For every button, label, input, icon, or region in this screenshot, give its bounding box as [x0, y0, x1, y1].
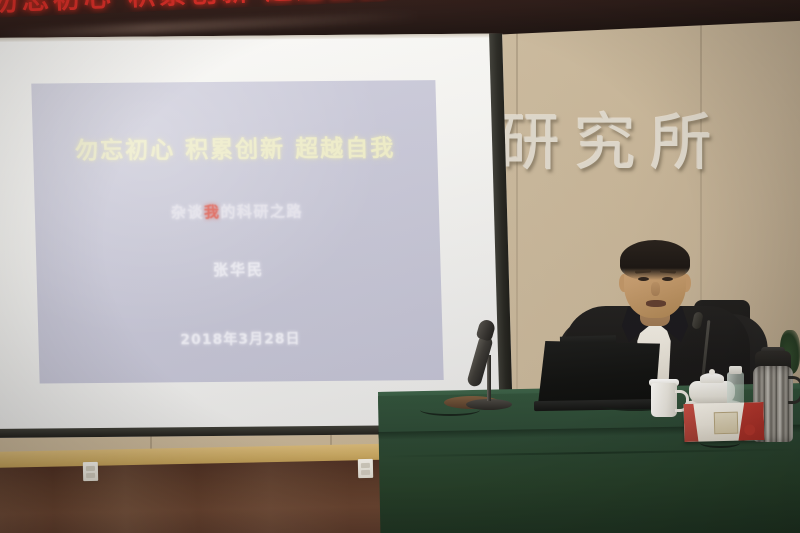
cable	[420, 404, 480, 416]
slide-subtitle-highlight: 我	[204, 203, 221, 221]
slide-subtitle-before: 杂谈	[171, 203, 205, 221]
teapot-knob	[709, 369, 715, 375]
slide-title: 勿忘初心 积累创新 超越自我	[33, 128, 438, 166]
speaker-eye-left	[638, 277, 649, 281]
speaker-mouth	[646, 300, 666, 307]
slide-subtitle: 杂谈我的科研之路	[35, 199, 440, 224]
microphone-stem	[487, 355, 491, 401]
thermos-handle	[788, 376, 800, 404]
floor-reflection	[0, 459, 442, 533]
speaker-nose	[651, 282, 660, 296]
floor	[0, 459, 442, 533]
speaker-hair	[620, 240, 690, 280]
projected-slide: 勿忘初心 积累创新 超越自我 杂谈我的科研之路 张华民 2018年3月28日	[31, 80, 443, 383]
projection-screen: 勿忘初心 积累创新 超越自我 杂谈我的科研之路 张华民 2018年3月28日	[0, 33, 513, 437]
wall-outlet-icon	[83, 462, 98, 481]
speaker-eye-right	[662, 277, 673, 281]
slide-subtitle-after: 的科研之路	[220, 202, 303, 221]
gift-box	[684, 402, 765, 442]
water-bottle-cap	[729, 366, 742, 374]
lecture-hall-photo: 研究所 勿忘初心 积累创新 超越自我 勿忘初心 积累创新 超越自我 杂谈我的科研…	[0, 0, 800, 533]
gift-box-label	[714, 412, 739, 435]
white-mug	[651, 383, 677, 417]
slide-speaker-name: 张华民	[36, 257, 441, 282]
laptop	[538, 341, 660, 407]
wall-sign-text: 研究所	[498, 92, 726, 182]
slide-date: 2018年3月28日	[38, 327, 443, 351]
wall-outlet-icon	[358, 459, 373, 478]
gift-box-red-left	[684, 404, 699, 442]
